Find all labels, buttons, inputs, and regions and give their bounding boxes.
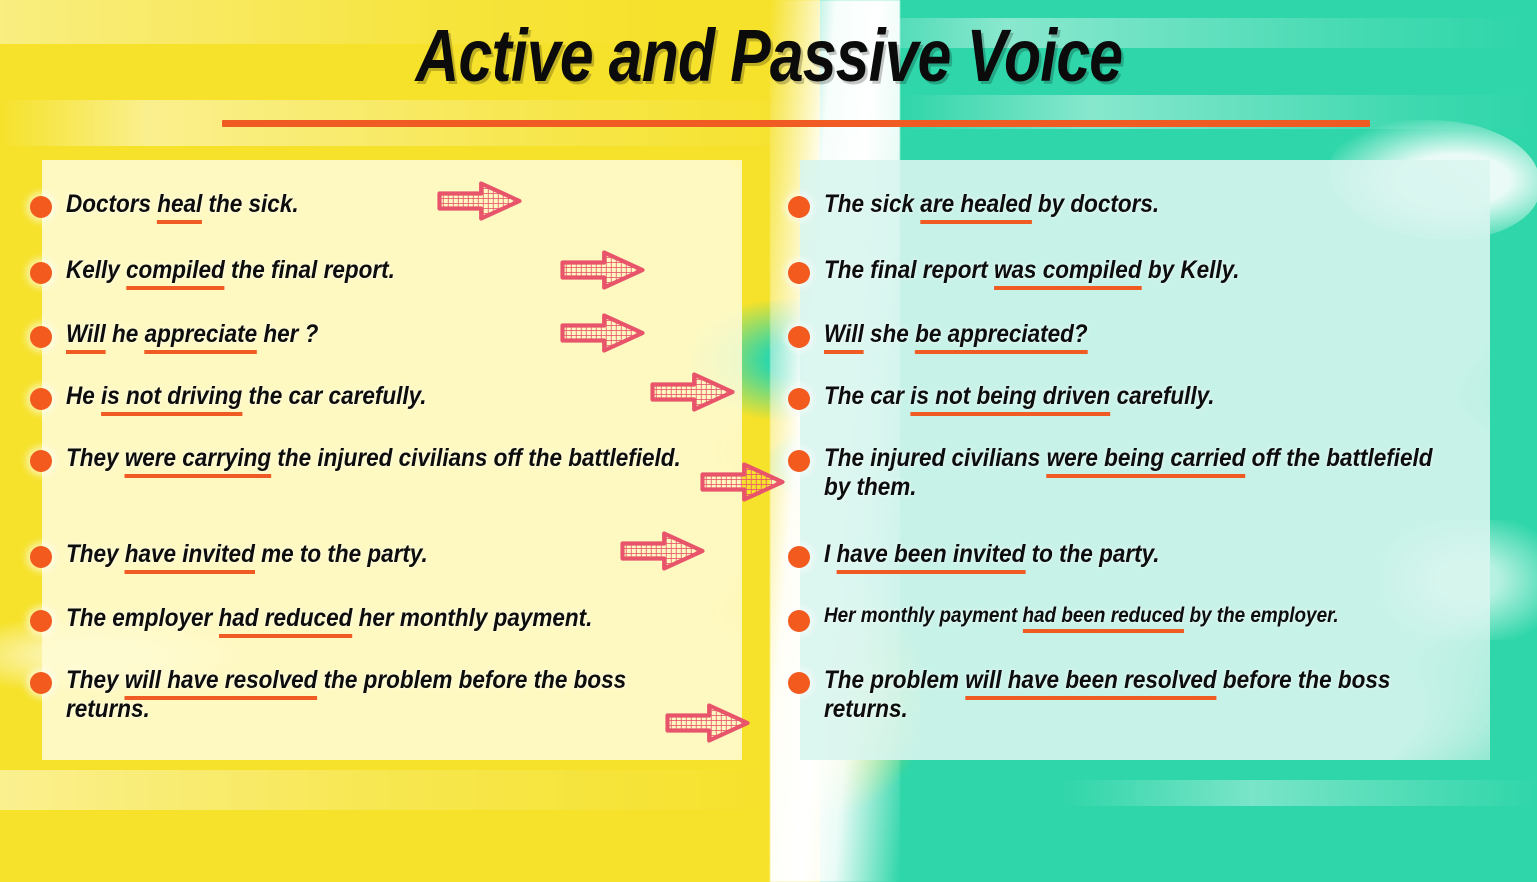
underlined-verb-phrase: is not being driven [910, 382, 1110, 416]
plain-text-segment: Kelly [66, 256, 126, 284]
transform-arrow-4 [650, 372, 735, 412]
underlined-verb-phrase: Will [824, 320, 864, 354]
plain-text-segment: He [66, 382, 101, 410]
plain-text-segment: The sick [824, 190, 920, 218]
list-item: Kelly compiled the final report. [30, 256, 775, 285]
underlined-verb-phrase: will have been resolved [965, 666, 1216, 700]
sentence-text: Her monthly payment had been reduced by … [824, 604, 1449, 628]
sentence-text: The car is not being driven carefully. [824, 382, 1449, 411]
bullet-dot-icon [788, 262, 810, 284]
plain-text-segment: to the party. [1025, 540, 1159, 568]
bullet-dot-icon [788, 196, 810, 218]
plain-text-segment: They [66, 666, 125, 694]
title-container: Active and Passive Voice [0, 18, 1537, 93]
bullet-dot-icon [788, 388, 810, 410]
plain-text-segment: Doctors [66, 190, 157, 218]
underlined-verb-phrase: had reduced [219, 604, 353, 638]
plain-text-segment: the final report. [225, 256, 395, 284]
transform-arrow-5 [700, 462, 785, 502]
plain-text-segment: The car [824, 382, 910, 410]
plain-text-segment: The problem [824, 666, 965, 694]
sentence-text: The problem will have been resolved befo… [824, 666, 1449, 723]
title-underline-rule [222, 120, 1370, 127]
plain-text-segment: he [106, 320, 145, 348]
transform-arrow-2 [560, 250, 645, 290]
sentence-text: The injured civilians were being carried… [824, 444, 1449, 501]
list-item: They will have resolved the problem befo… [30, 666, 775, 723]
list-item: The sick are healed by doctors. [788, 190, 1518, 219]
bullet-dot-icon [30, 388, 52, 410]
transform-arrow-1 [437, 181, 522, 221]
plain-text-segment: Her monthly payment [824, 604, 1022, 627]
plain-text-segment: They [66, 540, 125, 568]
bullet-dot-icon [30, 610, 52, 632]
list-item: I have been invited to the party. [788, 540, 1518, 569]
bullet-dot-icon [30, 672, 52, 694]
bullet-dot-icon [788, 450, 810, 472]
list-item: Her monthly payment had been reduced by … [788, 604, 1518, 632]
plain-text-segment: I [824, 540, 837, 568]
sentence-text: They were carrying the injured civilians… [66, 444, 704, 473]
sentence-text: Doctors heal the sick. [66, 190, 704, 219]
underlined-verb-phrase: compiled [126, 256, 225, 290]
list-item: The injured civilians were being carried… [788, 444, 1518, 501]
plain-text-segment: by the employer. [1184, 604, 1338, 627]
sentence-text: He is not driving the car carefully. [66, 382, 704, 411]
list-item: Doctors heal the sick. [30, 190, 775, 219]
underlined-verb-phrase: have been invited [837, 540, 1026, 574]
bullet-dot-icon [788, 610, 810, 632]
list-item: Will he appreciate her ? [30, 320, 775, 349]
plain-text-segment: The injured civilians [824, 444, 1047, 472]
list-item: The problem will have been resolved befo… [788, 666, 1518, 723]
plain-text-segment: me to the party. [255, 540, 428, 568]
sentence-text: Will she be appreciated? [824, 320, 1449, 349]
underlined-verb-phrase: was compiled [994, 256, 1142, 290]
transform-arrow-7 [665, 703, 750, 743]
bullet-dot-icon [30, 196, 52, 218]
bullet-dot-icon [30, 326, 52, 348]
sentence-text: The sick are healed by doctors. [824, 190, 1449, 219]
list-item: The final report was compiled by Kelly. [788, 256, 1518, 285]
plain-text-segment: the sick. [202, 190, 298, 218]
bullet-dot-icon [788, 672, 810, 694]
bullet-dot-icon [30, 262, 52, 284]
plain-text-segment: her ? [257, 320, 318, 348]
underlined-verb-phrase: had been reduced [1022, 604, 1184, 633]
underlined-verb-phrase: have invited [125, 540, 255, 574]
bullet-dot-icon [788, 326, 810, 348]
underlined-verb-phrase: were being carried [1047, 444, 1246, 478]
underlined-verb-phrase: is not driving [101, 382, 242, 416]
underlined-verb-phrase: were carrying [125, 444, 271, 478]
page-title: Active and Passive Voice [415, 18, 1122, 93]
plain-text-segment: by Kelly. [1142, 256, 1240, 284]
sentence-text: The final report was compiled by Kelly. [824, 256, 1449, 285]
bullet-dot-icon [788, 546, 810, 568]
plain-text-segment: the car carefully. [242, 382, 426, 410]
poster-canvas: Active and Passive Voice Doctors heal th… [0, 0, 1537, 882]
plain-text-segment: the injured civilians off the battlefiel… [271, 444, 681, 472]
plain-text-segment: carefully. [1110, 382, 1214, 410]
list-item: The car is not being driven carefully. [788, 382, 1518, 411]
underlined-verb-phrase: be appreciated? [915, 320, 1088, 354]
list-item: The employer had reduced her monthly pay… [30, 604, 775, 633]
bullet-dot-icon [30, 450, 52, 472]
plain-text-segment: her monthly payment. [352, 604, 592, 632]
sentence-text: They will have resolved the problem befo… [66, 666, 704, 723]
underlined-verb-phrase: appreciate [145, 320, 258, 354]
underlined-verb-phrase: Will [66, 320, 106, 354]
underlined-verb-phrase: will have resolved [125, 666, 318, 700]
plain-text-segment: by doctors. [1032, 190, 1160, 218]
underlined-verb-phrase: heal [157, 190, 202, 224]
sentence-text: They have invited me to the party. [66, 540, 704, 569]
plain-text-segment: They [66, 444, 125, 472]
plain-text-segment: she [864, 320, 915, 348]
bullet-dot-icon [30, 546, 52, 568]
underlined-verb-phrase: are healed [920, 190, 1031, 224]
transform-arrow-3 [560, 313, 645, 353]
sentence-text: The employer had reduced her monthly pay… [66, 604, 704, 633]
list-item: Will she be appreciated? [788, 320, 1518, 349]
list-item: They were carrying the injured civilians… [30, 444, 775, 473]
sentence-text: I have been invited to the party. [824, 540, 1449, 569]
transform-arrow-6 [620, 531, 705, 571]
plain-text-segment: The final report [824, 256, 994, 284]
plain-text-segment: The employer [66, 604, 219, 632]
